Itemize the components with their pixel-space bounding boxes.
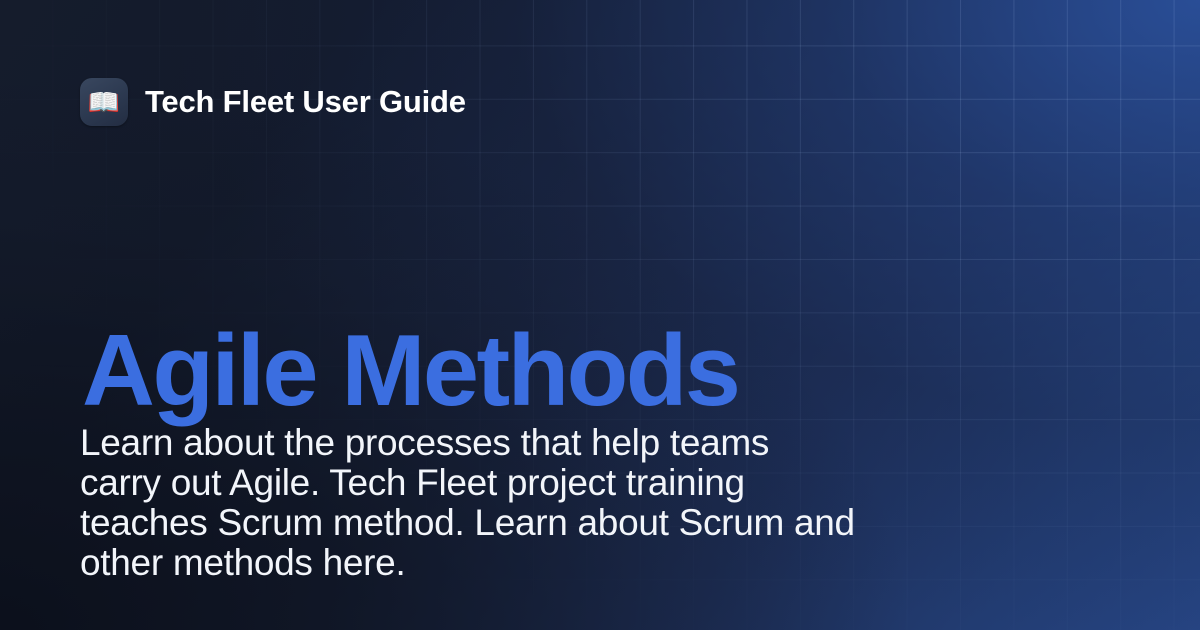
page-description: Learn about the processes that help team… [80, 423, 855, 583]
open-book-icon: 📖 [88, 89, 120, 115]
brand-badge: 📖 [80, 78, 128, 126]
page-title: Agile Methods [82, 321, 738, 422]
og-preview-card: 📖 Tech Fleet User Guide Agile Methods Le… [0, 0, 1200, 630]
card-content: 📖 Tech Fleet User Guide Agile Methods Le… [0, 0, 1200, 630]
brand-header: 📖 Tech Fleet User Guide [80, 78, 466, 126]
brand-title: Tech Fleet User Guide [145, 84, 466, 120]
